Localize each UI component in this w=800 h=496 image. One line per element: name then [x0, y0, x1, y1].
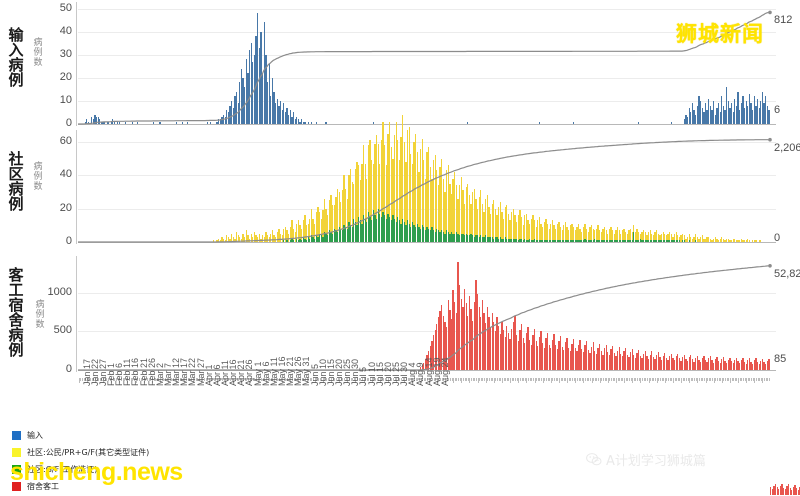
- workpass-bar: [534, 239, 535, 242]
- citizen-bar: [742, 240, 743, 242]
- imported-bar: [132, 122, 133, 124]
- workpass-bar: [415, 227, 416, 242]
- dormitory-bar: [731, 361, 732, 370]
- wechat-icon: [586, 453, 602, 467]
- dormitory-bar: [708, 358, 709, 370]
- workpass-bar: [337, 232, 338, 242]
- workpass-bar: [342, 230, 343, 242]
- workpass-bar: [396, 222, 397, 242]
- workpass-bar: [537, 240, 538, 242]
- citizen-bar: [228, 237, 229, 242]
- citizen-bar: [270, 234, 271, 242]
- workpass-bar: [352, 227, 353, 242]
- workpass-bar: [638, 240, 639, 242]
- citizen-bar: [729, 240, 730, 242]
- workpass-bar: [540, 240, 541, 242]
- workpass-bar: [487, 237, 488, 242]
- workpass-bar: [480, 235, 481, 242]
- imported-bar: [259, 48, 260, 124]
- imported-bar: [187, 122, 188, 124]
- workpass-bar: [593, 240, 594, 242]
- workpass-bar: [695, 240, 696, 242]
- workpass-bar: [322, 237, 323, 242]
- dormitory-bar: [523, 338, 524, 370]
- dormitory-bar: [729, 358, 730, 370]
- dormitory-bar: [480, 317, 481, 370]
- dormitory-bar: [788, 484, 789, 495]
- workpass-bar: [640, 239, 641, 242]
- imported-bar: [246, 59, 247, 124]
- citizen-bar: [485, 199, 486, 236]
- workpass-bar: [418, 227, 419, 242]
- workpass-bar: [552, 240, 553, 242]
- citizen-bar: [286, 230, 287, 240]
- citizen-bar: [641, 232, 642, 240]
- citizen-bar: [586, 229, 587, 241]
- citizen-bar: [700, 237, 701, 242]
- imported-bar: [768, 110, 769, 124]
- dormitory-bar: [736, 358, 737, 370]
- workpass-bar: [527, 240, 528, 242]
- y-tick-label: 1000: [32, 287, 72, 298]
- dormitory-bar: [672, 358, 673, 370]
- dormitory-bar: [627, 355, 628, 370]
- citizen-bar: [252, 237, 253, 242]
- citizen-bar: [439, 167, 440, 232]
- dormitory-bar: [741, 360, 742, 370]
- citizen-bar: [409, 127, 410, 224]
- citizen-bar: [436, 170, 437, 228]
- workpass-bar: [583, 240, 584, 242]
- imported-bar: [280, 101, 281, 124]
- citizen-bar: [304, 215, 305, 238]
- y-tick-label: 0: [32, 118, 72, 129]
- dormitory-bar: [702, 358, 703, 370]
- dormitory-bar: [720, 363, 721, 370]
- workpass-bar: [439, 232, 440, 242]
- citizen-bar: [369, 140, 370, 217]
- imported-bar: [689, 108, 690, 124]
- citizen-bar: [680, 235, 681, 242]
- citizen-bar: [376, 135, 377, 218]
- workpass-bar: [314, 239, 315, 242]
- imported-bar: [225, 117, 226, 124]
- citizen-bar: [501, 212, 502, 239]
- citizen-bar: [420, 149, 421, 229]
- workpass-bar: [394, 219, 395, 242]
- imported-bar: [153, 122, 154, 124]
- dormitory-bar: [511, 329, 512, 370]
- workpass-bar: [498, 239, 499, 242]
- workpass-bar: [345, 227, 346, 242]
- workpass-bar: [317, 237, 318, 242]
- imported-bar: [731, 103, 732, 124]
- dormitory-bar: [549, 345, 550, 370]
- y-tick-label: 40: [32, 169, 72, 180]
- imported-bar: [207, 122, 208, 124]
- dormitory-bar: [547, 333, 548, 370]
- citizen-bar: [272, 230, 273, 242]
- y-tick-label: 40: [32, 26, 72, 37]
- imported-bar: [684, 119, 685, 124]
- workpass-bar: [521, 239, 522, 242]
- dormitory-bar: [747, 360, 748, 370]
- workpass-bar: [404, 222, 405, 242]
- citizen-bar: [733, 239, 734, 242]
- citizen-bar: [417, 152, 418, 224]
- workpass-bar: [606, 240, 607, 242]
- workpass-bar: [324, 232, 325, 242]
- workpass-bar: [485, 235, 486, 242]
- workpass-bar: [378, 209, 379, 242]
- citizen-bar: [622, 230, 623, 240]
- dormitory-bar: [514, 316, 515, 370]
- imported-bar: [301, 119, 302, 124]
- citizen-bar: [282, 235, 283, 242]
- workpass-bar: [441, 230, 442, 242]
- workpass-bar: [492, 237, 493, 242]
- citizen-bar: [327, 215, 328, 235]
- workpass-bar: [539, 240, 540, 242]
- citizen-bar: [602, 229, 603, 241]
- workpass-bar: [461, 234, 462, 242]
- workpass-bar: [381, 217, 382, 242]
- workpass-bar: [602, 240, 603, 242]
- workpass-bar: [666, 240, 667, 242]
- dormitory-bar: [757, 362, 758, 370]
- citizen-bar: [386, 165, 387, 218]
- citizen-bar: [612, 230, 613, 240]
- workpass-bar: [651, 240, 652, 242]
- imported-bar: [176, 122, 177, 124]
- citizen-bar: [479, 197, 480, 237]
- citizen-bar: [540, 224, 541, 241]
- citizen-bar: [728, 239, 729, 242]
- imported-bar: [744, 108, 745, 124]
- citizen-bar: [366, 179, 367, 222]
- workpass-bar: [312, 237, 313, 242]
- citizen-bar: [734, 239, 735, 242]
- citizen-bar: [601, 232, 602, 240]
- citizen-bar: [226, 235, 227, 242]
- citizen-bar: [625, 232, 626, 240]
- citizen-bar: [392, 159, 393, 216]
- workpass-bar: [503, 239, 504, 242]
- dormitory-bar: [527, 327, 528, 370]
- citizen-bar: [503, 219, 504, 239]
- imported-bar: [254, 55, 255, 124]
- citizen-bar: [498, 207, 499, 239]
- citizen-bar: [671, 234, 672, 241]
- citizen-bar: [545, 219, 546, 241]
- workpass-bar: [353, 219, 354, 242]
- citizen-bar: [539, 217, 540, 240]
- workpass-bar: [399, 220, 400, 242]
- imported-bar: [283, 103, 284, 124]
- citizen-bar: [329, 200, 330, 230]
- workpass-bar: [500, 237, 501, 242]
- dormitory-bar: [728, 360, 729, 370]
- citizen-bar: [293, 229, 294, 241]
- dormitory-bar: [462, 307, 463, 370]
- citizen-bar: [312, 219, 313, 237]
- citizen-bar: [466, 187, 467, 234]
- workpass-bar: [366, 222, 367, 242]
- workpass-bar: [446, 230, 447, 242]
- citizen-bar: [475, 199, 476, 236]
- workpass-bar: [529, 239, 530, 242]
- dormitory-bar: [466, 303, 467, 370]
- gridline: [78, 101, 776, 102]
- workpass-bar: [550, 240, 551, 242]
- citizen-bar: [708, 237, 709, 242]
- imported-bar: [734, 99, 735, 124]
- dormitory-bar: [452, 290, 453, 370]
- workpass-bar: [667, 240, 668, 242]
- dormitory-bar: [565, 342, 566, 370]
- citizen-bar: [382, 122, 383, 212]
- citizen-bar: [653, 235, 654, 240]
- citizen-bar: [236, 232, 237, 242]
- dormitory-bar: [633, 355, 634, 370]
- citizen-bar: [739, 240, 740, 242]
- citizen-bar: [597, 225, 598, 240]
- citizen-bar: [467, 184, 468, 236]
- workpass-bar: [563, 240, 564, 242]
- citizen-bar: [493, 200, 494, 238]
- dormitory-bar: [506, 326, 507, 370]
- citizen-bar: [438, 185, 439, 230]
- workpass-bar: [562, 240, 563, 242]
- imported-bar: [210, 122, 211, 124]
- workpass-bar: [422, 225, 423, 242]
- workpass-bar: [601, 240, 602, 242]
- dormitory-bar: [531, 345, 532, 370]
- workpass-bar: [464, 235, 465, 242]
- citizen-bar: [635, 232, 636, 240]
- y-tick-label: 60: [32, 136, 72, 147]
- workpass-bar: [309, 239, 310, 242]
- workpass-bar: [570, 240, 571, 242]
- citizen-bar: [373, 164, 374, 211]
- citizen-bar: [350, 169, 351, 226]
- citizen-bar: [267, 235, 268, 242]
- imported-bar: [754, 96, 755, 124]
- citizen-bar: [648, 232, 649, 240]
- citizen-bar: [342, 190, 343, 230]
- workpass-bar: [672, 240, 673, 242]
- dormitory-bar: [778, 489, 779, 495]
- dormitory-bar: [602, 355, 603, 370]
- workpass-bar: [663, 240, 664, 242]
- legend-swatch: [12, 431, 21, 440]
- citizen-bar: [303, 220, 304, 237]
- dormitory-bar: [636, 353, 637, 370]
- workpass-bar: [658, 240, 659, 242]
- workpass-bar: [643, 240, 644, 242]
- imported-bar: [255, 36, 256, 124]
- citizen-bar: [706, 237, 707, 242]
- workpass-bar: [361, 224, 362, 242]
- imported-bar: [763, 103, 764, 124]
- imported-bar: [746, 101, 747, 124]
- citizen-bar: [524, 215, 525, 238]
- imported-bar: [698, 96, 699, 124]
- citizen-bar: [249, 239, 250, 242]
- citizen-bar: [632, 232, 633, 240]
- gridline: [78, 55, 776, 56]
- imported-bar: [257, 13, 258, 124]
- imported-bar: [93, 119, 94, 124]
- imported-bar: [311, 122, 312, 124]
- imported-bar: [729, 108, 730, 124]
- citizen-bar: [562, 230, 563, 240]
- citizen-bar: [277, 232, 278, 242]
- dormitory-bar: [718, 361, 719, 370]
- citizen-bar: [713, 239, 714, 242]
- cumulative-total-label: 2,206: [774, 142, 800, 154]
- workpass-bar: [291, 239, 292, 242]
- workpass-bar: [325, 234, 326, 242]
- citizen-bar: [239, 237, 240, 242]
- dormitory-bar: [581, 349, 582, 370]
- dormitory-bar: [648, 359, 649, 370]
- citizen-bar: [516, 222, 517, 239]
- dormitory-bar: [498, 326, 499, 370]
- workpass-bar: [588, 240, 589, 242]
- imported-bar: [112, 119, 113, 124]
- citizen-bar: [591, 225, 592, 240]
- workpass-bar: [674, 240, 675, 242]
- citizen-bar: [741, 239, 742, 242]
- workpass-bar: [542, 240, 543, 242]
- dormitory-bar: [754, 360, 755, 370]
- y-tick-label: 0: [32, 364, 72, 375]
- dormitory-bar: [583, 352, 584, 370]
- x-tick-mark: [769, 378, 770, 381]
- dormitory-bar: [685, 359, 686, 370]
- workpass-bar: [664, 240, 665, 242]
- workpass-bar: [505, 237, 506, 242]
- imported-bar: [304, 122, 305, 124]
- citizen-bar: [389, 122, 390, 217]
- panel-title: 社区病例: [6, 152, 26, 212]
- dormitory-bar: [661, 360, 662, 370]
- workpass-bar: [462, 234, 463, 242]
- dormitory-bar: [687, 361, 688, 370]
- imported-bar: [736, 106, 737, 124]
- workpass-bar: [371, 220, 372, 242]
- dormitory-bar: [487, 307, 488, 370]
- dormitory-bar: [711, 360, 712, 370]
- citizen-bar: [391, 147, 392, 220]
- workpass-bar: [332, 234, 333, 242]
- citizen-bar: [254, 232, 255, 242]
- y-axis-title: 病例数: [32, 38, 44, 68]
- citizen-bar: [483, 212, 484, 237]
- workpass-bar: [433, 230, 434, 242]
- citizen-bar: [615, 230, 616, 240]
- dormitory-bar: [539, 337, 540, 370]
- citizen-bar: [299, 225, 300, 238]
- imported-bar: [728, 101, 729, 124]
- dormitory-bar: [734, 360, 735, 370]
- citizen-bar: [723, 239, 724, 242]
- citizen-bar: [356, 162, 357, 225]
- imported-bar: [288, 115, 289, 124]
- citizen-bar: [335, 197, 336, 230]
- dormitory-bar: [759, 364, 760, 370]
- gridline: [78, 331, 776, 332]
- workpass-bar: [506, 239, 507, 242]
- citizen-bar: [726, 239, 727, 242]
- dormitory-bar: [791, 490, 792, 495]
- citizen-bar: [296, 224, 297, 239]
- y-tick-label: 0: [32, 236, 72, 247]
- workpass-bar: [645, 240, 646, 242]
- citizen-bar: [298, 220, 299, 240]
- citizen-bar: [412, 164, 413, 222]
- imported-bar: [291, 117, 292, 124]
- citizen-bar: [405, 162, 406, 225]
- citizen-bar: [746, 240, 747, 242]
- imported-bar: [216, 122, 217, 124]
- y-tick-label: 20: [32, 203, 72, 214]
- citizen-bar: [413, 142, 414, 225]
- workpass-bar: [531, 240, 532, 242]
- citizen-bar: [325, 209, 326, 234]
- dormitory-bar: [721, 359, 722, 370]
- dormitory-bar: [775, 484, 776, 495]
- workpass-bar: [426, 227, 427, 242]
- imported-bar: [298, 119, 299, 124]
- imported-bar: [242, 78, 243, 124]
- legend-item[interactable]: 输入: [12, 428, 149, 443]
- citizen-bar: [705, 239, 706, 242]
- citizen-bar: [593, 229, 594, 241]
- citizen-bar: [697, 237, 698, 242]
- workpass-bar: [329, 230, 330, 242]
- citizen-bar: [563, 225, 564, 240]
- dormitory-bar: [630, 352, 631, 370]
- imported-bar: [721, 96, 722, 124]
- citizen-bar: [747, 239, 748, 242]
- workpass-bar: [669, 240, 670, 242]
- citizen-bar: [550, 224, 551, 241]
- dormitory-bar: [768, 359, 769, 370]
- dormitory-bar: [607, 352, 608, 370]
- citizen-bar: [656, 230, 657, 240]
- imported-bar: [693, 110, 694, 124]
- citizen-bar: [568, 230, 569, 240]
- citizen-bar: [604, 227, 605, 240]
- workpass-bar: [444, 234, 445, 242]
- gridline: [78, 78, 776, 79]
- citizen-bar: [646, 235, 647, 240]
- workpass-bar: [374, 215, 375, 242]
- citizen-bar: [470, 204, 471, 234]
- workpass-bar: [443, 232, 444, 242]
- citizen-bar: [446, 170, 447, 230]
- dormitory-bar: [780, 486, 781, 495]
- dormitory-bar: [470, 309, 471, 370]
- dormitory-bar: [755, 358, 756, 370]
- workpass-bar: [339, 227, 340, 242]
- workpass-bar: [625, 240, 626, 242]
- imported-bar: [239, 82, 240, 124]
- citizen-bar: [225, 240, 226, 242]
- workpass-bar: [628, 240, 629, 242]
